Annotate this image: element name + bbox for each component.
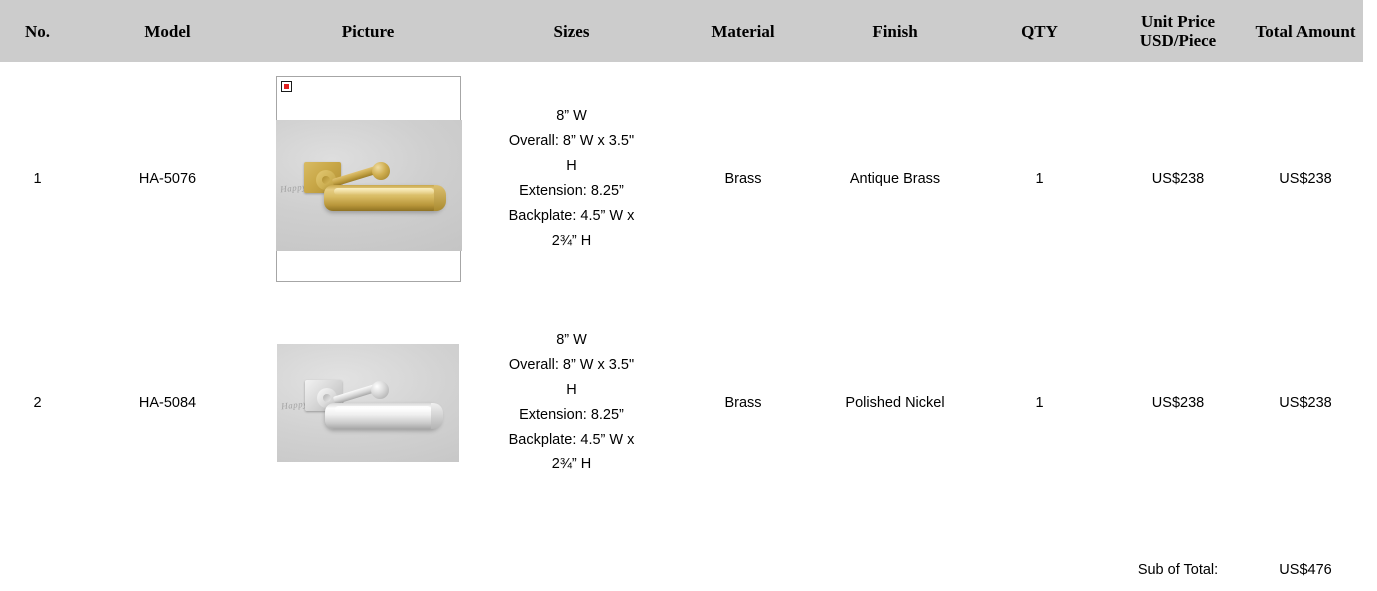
column-header-total-amount: Total Amount bbox=[1248, 0, 1363, 62]
table-row: 1 HA-5076 Happy Lighting bbox=[0, 62, 1377, 296]
cell-model: HA-5076 bbox=[75, 62, 260, 296]
broken-image-placeholder: Happy Lighting bbox=[276, 76, 461, 282]
quotation-table: No. Model Picture Sizes Material Finish … bbox=[0, 0, 1377, 591]
lamp-shade-highlight bbox=[334, 188, 434, 195]
sizes-text: 8” W Overall: 8” W x 3.5" H Extension: 8… bbox=[476, 328, 667, 478]
lamp-rosette-core bbox=[322, 176, 330, 184]
subtotal-row: Sub of Total: US$476 bbox=[0, 549, 1377, 591]
cell-total-amount: US$238 bbox=[1248, 296, 1363, 509]
cell-unit-price: US$238 bbox=[1108, 296, 1248, 509]
header-row: No. Model Picture Sizes Material Finish … bbox=[0, 0, 1377, 62]
column-header-material: Material bbox=[667, 0, 819, 62]
column-header-sizes: Sizes bbox=[476, 0, 667, 62]
broken-image-icon bbox=[281, 81, 292, 92]
column-header-finish: Finish bbox=[819, 0, 971, 62]
table-body: 1 HA-5076 Happy Lighting bbox=[0, 62, 1377, 591]
subtotal-gutter bbox=[1363, 549, 1377, 591]
cell-finish: Polished Nickel bbox=[819, 296, 971, 509]
lamp-ball-joint bbox=[371, 381, 389, 399]
column-header-unit-price: Unit Price USD/Piece bbox=[1108, 0, 1248, 62]
column-header-qty: QTY bbox=[971, 0, 1108, 62]
subtotal-pad-no bbox=[0, 549, 75, 591]
column-header-model: Model bbox=[75, 0, 260, 62]
cell-gutter bbox=[1363, 62, 1377, 296]
cell-qty: 1 bbox=[971, 296, 1108, 509]
subtotal-pad-qty bbox=[971, 549, 1108, 591]
unit-price-line-1: Unit Price bbox=[1141, 12, 1215, 31]
subtotal-pad-material bbox=[667, 549, 819, 591]
table-row: 2 HA-5084 Happy Lighting bbox=[0, 296, 1377, 509]
lamp-rosette-core bbox=[323, 394, 331, 402]
sizes-text: 8” W Overall: 8” W x 3.5" H Extension: 8… bbox=[476, 104, 667, 254]
cell-sizes: 8” W Overall: 8” W x 3.5" H Extension: 8… bbox=[476, 296, 667, 509]
cell-no: 1 bbox=[0, 62, 75, 296]
cell-picture: Happy Lighting bbox=[260, 296, 476, 509]
lamp-ball-joint bbox=[372, 162, 390, 180]
spacer-row bbox=[0, 509, 1377, 549]
lamp-shade-highlight bbox=[335, 406, 431, 413]
cell-picture: Happy Lighting bbox=[260, 62, 476, 296]
cell-gutter bbox=[1363, 296, 1377, 509]
column-header-no: No. bbox=[0, 0, 75, 62]
product-photo-nickel: Happy Lighting bbox=[277, 344, 459, 462]
subtotal-label: Sub of Total: bbox=[1108, 549, 1248, 591]
subtotal-pad-model bbox=[75, 549, 260, 591]
subtotal-pad-finish bbox=[819, 549, 971, 591]
subtotal-value: US$476 bbox=[1248, 549, 1363, 591]
cell-finish: Antique Brass bbox=[819, 62, 971, 296]
cell-no: 2 bbox=[0, 296, 75, 509]
cell-unit-price: US$238 bbox=[1108, 62, 1248, 296]
column-header-picture: Picture bbox=[260, 0, 476, 62]
subtotal-pad-sizes bbox=[476, 549, 667, 591]
header-right-gutter bbox=[1363, 0, 1377, 62]
subtotal-pad-picture bbox=[260, 549, 476, 591]
spacer-cell bbox=[0, 509, 1377, 549]
lamp-shade-end-cap bbox=[431, 403, 443, 429]
product-photo-brass: Happy Lighting bbox=[276, 120, 462, 251]
cell-qty: 1 bbox=[971, 62, 1108, 296]
cell-total-amount: US$238 bbox=[1248, 62, 1363, 296]
lamp-shade-end-cap bbox=[434, 185, 446, 211]
table-header: No. Model Picture Sizes Material Finish … bbox=[0, 0, 1377, 62]
cell-material: Brass bbox=[667, 296, 819, 509]
unit-price-line-2: USD/Piece bbox=[1140, 31, 1216, 50]
cell-material: Brass bbox=[667, 62, 819, 296]
cell-sizes: 8” W Overall: 8” W x 3.5" H Extension: 8… bbox=[476, 62, 667, 296]
cell-model: HA-5084 bbox=[75, 296, 260, 509]
